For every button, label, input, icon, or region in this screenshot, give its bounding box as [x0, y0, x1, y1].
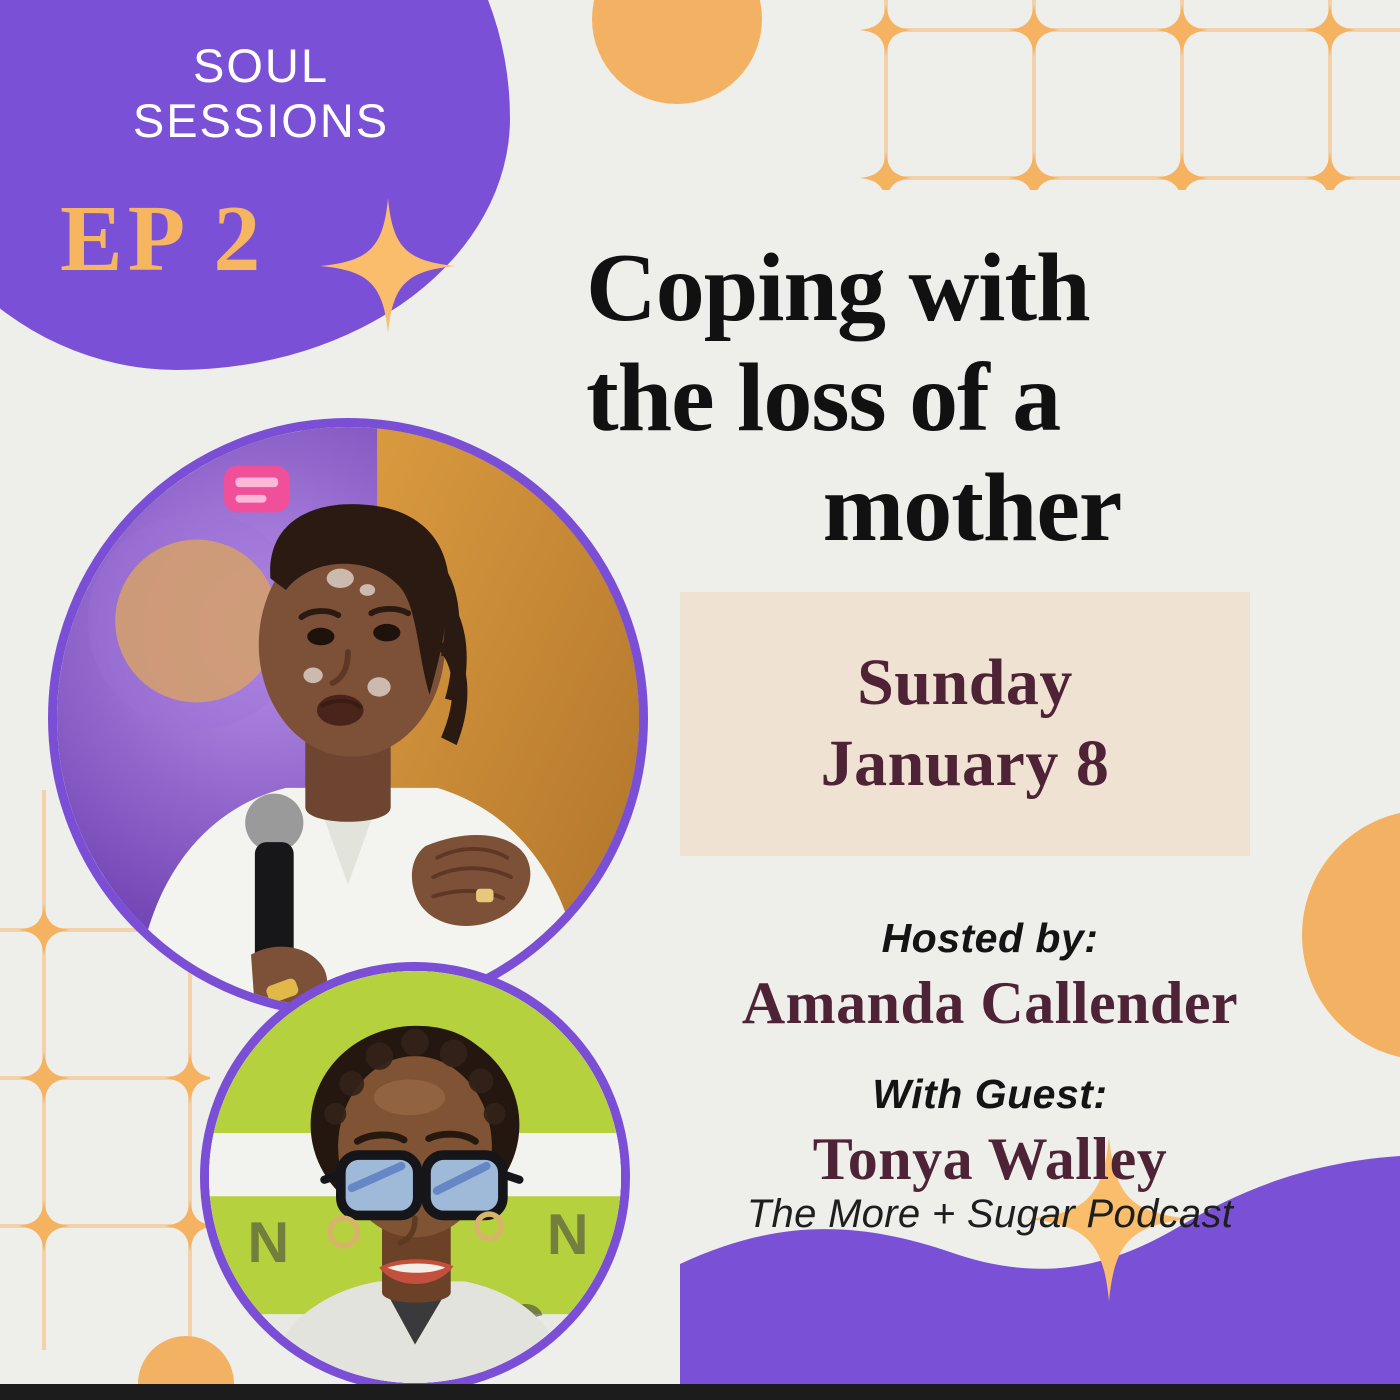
orange-circle-bottom-left-decoration [138, 1336, 234, 1400]
show-name-line-2: SESSIONS [96, 93, 426, 148]
four-point-star-episode-icon [318, 196, 458, 336]
svg-text:N: N [547, 1203, 589, 1267]
podcast-name: The More + Sugar Podcast [660, 1192, 1320, 1237]
guest-photo: N N C [200, 962, 630, 1392]
bottom-dark-band [0, 1384, 1400, 1400]
host-name: Amanda Callender [660, 965, 1320, 1042]
show-name: SOUL SESSIONS [96, 38, 426, 149]
sparkle-grid-top-right-icon [858, 0, 1400, 190]
guest-eyebrow: With Guest: [660, 1068, 1320, 1121]
guest-photo-image: N N C [209, 971, 621, 1383]
date-date: January 8 [821, 724, 1110, 805]
svg-text:N: N [247, 1211, 289, 1275]
credits-spacer [660, 1042, 1320, 1068]
credits-block: Hosted by: Amanda Callender With Guest: … [660, 912, 1320, 1198]
date-box: Sunday January 8 [680, 592, 1250, 856]
page-title: Coping with the loss of a mother [586, 234, 1358, 563]
host-eyebrow: Hosted by: [660, 912, 1320, 965]
host-photo [48, 418, 648, 1018]
guest-name: Tonya Walley [660, 1121, 1320, 1198]
title-line-3: mother [586, 454, 1358, 564]
title-line-1: Coping with [586, 234, 1358, 344]
date-day: Sunday [857, 643, 1073, 724]
title-line-2: the loss of a [586, 344, 1358, 454]
episode-number-label: EP 2 [60, 192, 265, 286]
orange-circle-top-decoration [592, 0, 762, 104]
show-name-line-1: SOUL [96, 38, 426, 93]
podcast-episode-poster: SOUL SESSIONS EP 2 [0, 0, 1400, 1400]
host-photo-image [57, 427, 639, 1009]
